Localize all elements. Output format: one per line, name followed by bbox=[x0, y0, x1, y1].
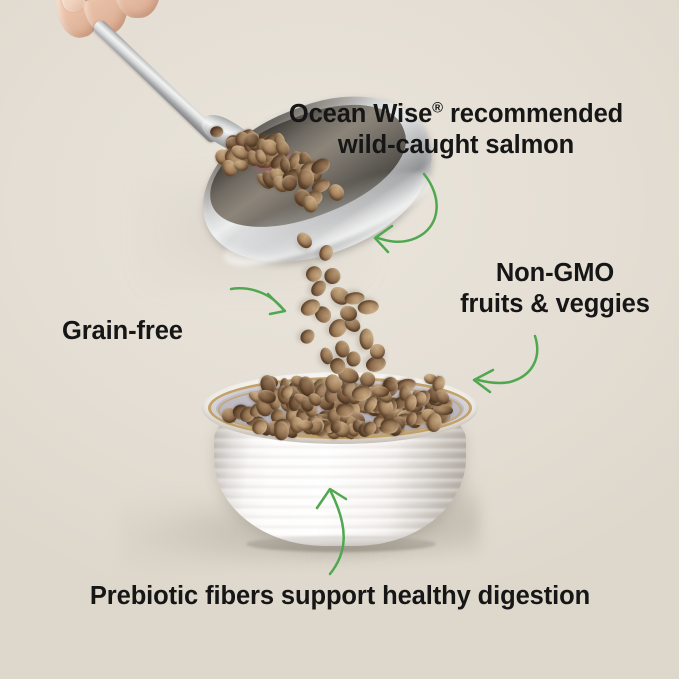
white-ceramic-ribbed-bowl bbox=[202, 372, 478, 550]
product-infographic-scene: Ocean Wise® recommendedwild-caught salmo… bbox=[0, 0, 679, 679]
bowl-interior bbox=[216, 382, 464, 436]
label-grain-free: Grain-free bbox=[62, 316, 232, 347]
label-ocean-wise-salmon: Ocean Wise® recommendedwild-caught salmo… bbox=[254, 99, 658, 161]
kibble-piece bbox=[346, 351, 360, 366]
kibble-piece bbox=[312, 303, 334, 325]
arrow-to-grain-free bbox=[228, 278, 318, 338]
kibble-piece bbox=[318, 346, 335, 366]
label-non-gmo: Non-GMO fruits & veggies bbox=[448, 258, 662, 320]
kibble-piece bbox=[344, 291, 365, 306]
kibble-piece bbox=[357, 299, 380, 316]
kibble-piece bbox=[324, 268, 341, 284]
label-salmon-line1-rest: recommended bbox=[443, 100, 623, 128]
kibble-piece bbox=[303, 263, 325, 285]
kibble-piece bbox=[325, 315, 350, 341]
kibble-piece bbox=[364, 354, 387, 374]
bowl-base-shadow bbox=[246, 536, 436, 552]
kibble-piece bbox=[298, 296, 323, 319]
kibble-piece bbox=[333, 339, 351, 359]
kibble-piece bbox=[339, 305, 359, 323]
kibble-piece bbox=[327, 283, 353, 308]
kibble-piece bbox=[368, 342, 388, 362]
kibble-piece bbox=[342, 314, 363, 334]
registered-mark: ® bbox=[432, 101, 443, 117]
label-salmon-line2: wild-caught salmon bbox=[338, 131, 574, 159]
kibble-piece bbox=[359, 328, 374, 350]
label-salmon-line1: Ocean Wise bbox=[289, 100, 432, 128]
kibble-piece bbox=[298, 327, 318, 347]
kibble-piece bbox=[308, 278, 329, 299]
label-prebiotic-fibers: Prebiotic fibers support healthy digesti… bbox=[48, 581, 632, 612]
